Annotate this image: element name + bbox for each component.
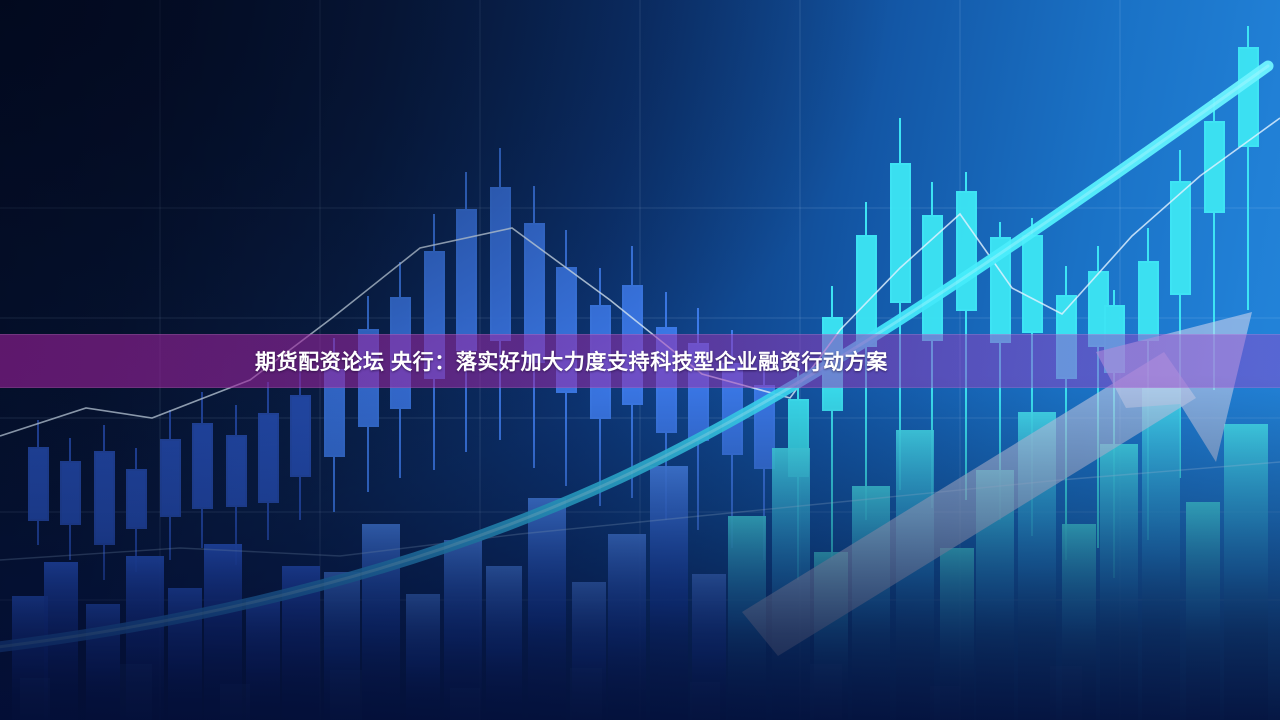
title-banner: 期货配资论坛 央行：落实好加大力度支持科技型企业融资行动方案 [0,334,1280,388]
page-title: 期货配资论坛 央行：落实好加大力度支持科技型企业融资行动方案 [255,346,888,376]
hero-image: 期货配资论坛 央行：落实好加大力度支持科技型企业融资行动方案 [0,0,1280,720]
